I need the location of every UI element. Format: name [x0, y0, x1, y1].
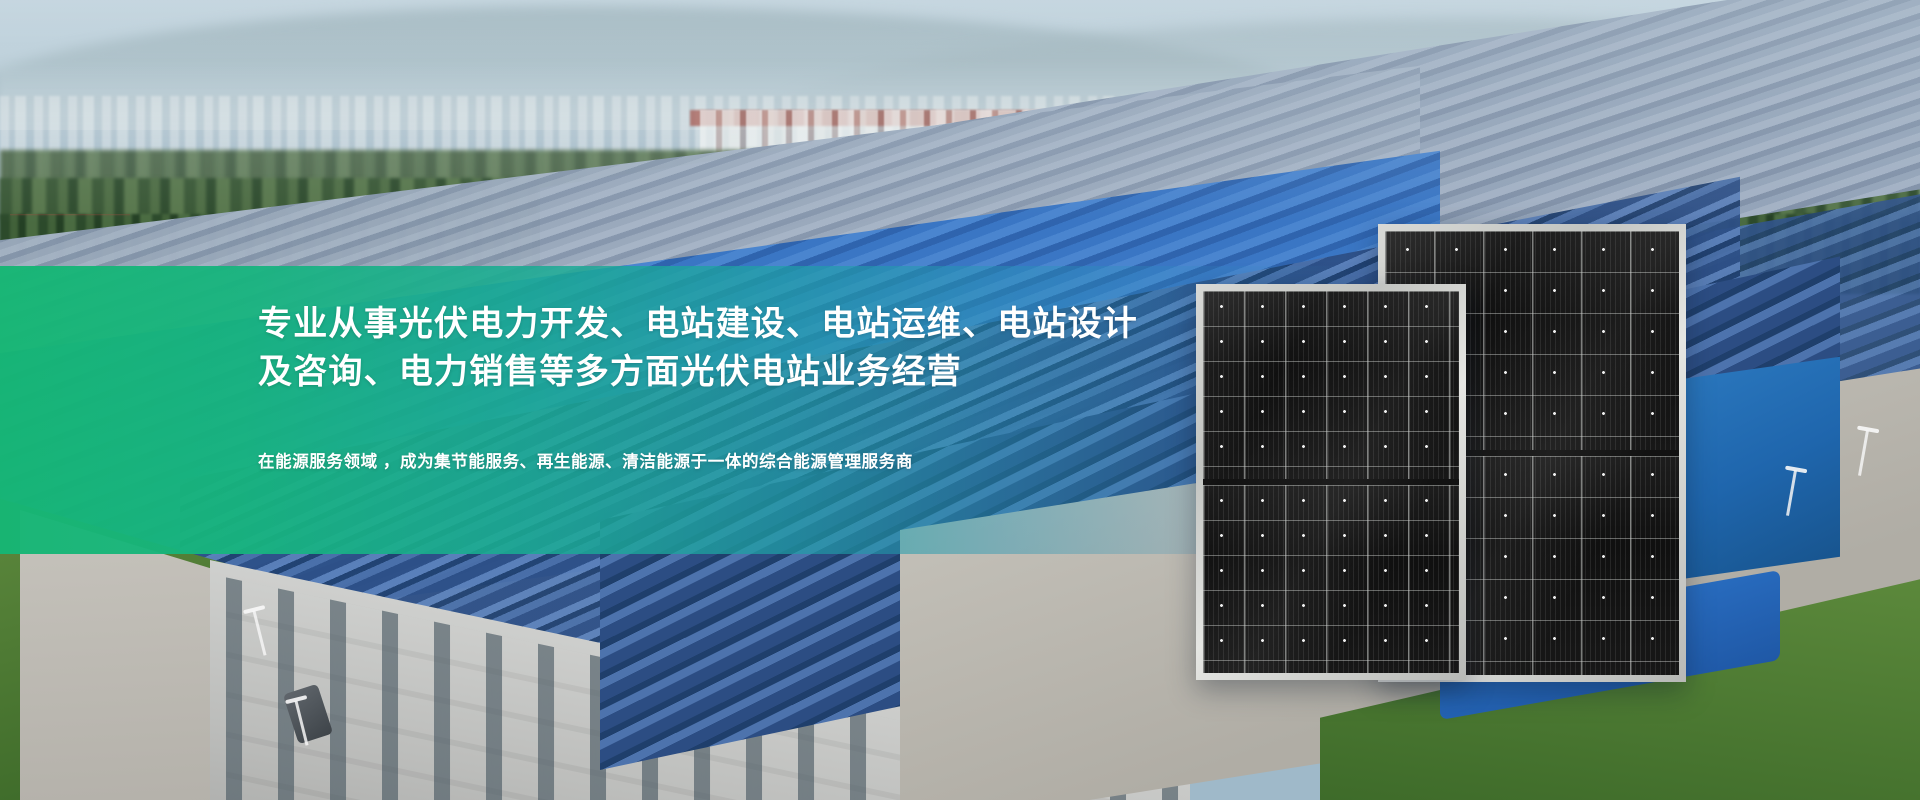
cell-block-bottom [1203, 485, 1459, 673]
solar-panel-front-laminate [1203, 291, 1459, 673]
hero-banner: 专业从事光伏电力开发、电站建设、电站运维、电站设计 及咨询、电力销售等多方面光伏… [0, 0, 1920, 800]
solder-dots [1203, 485, 1459, 673]
banner-copy: 专业从事光伏电力开发、电站建设、电站运维、电站设计 及咨询、电力销售等多方面光伏… [258, 300, 1258, 475]
solar-panel-front [1196, 284, 1466, 680]
banner-subline: 在能源服务领域 ，成为集节能服务、再生能源、清洁能源于一体的综合能源管理服务商 [258, 449, 1258, 475]
solder-dots [1203, 291, 1459, 479]
cell-block-top [1203, 291, 1459, 479]
banner-headline: 专业从事光伏电力开发、电站建设、电站运维、电站设计 及咨询、电力销售等多方面光伏… [258, 300, 1258, 397]
